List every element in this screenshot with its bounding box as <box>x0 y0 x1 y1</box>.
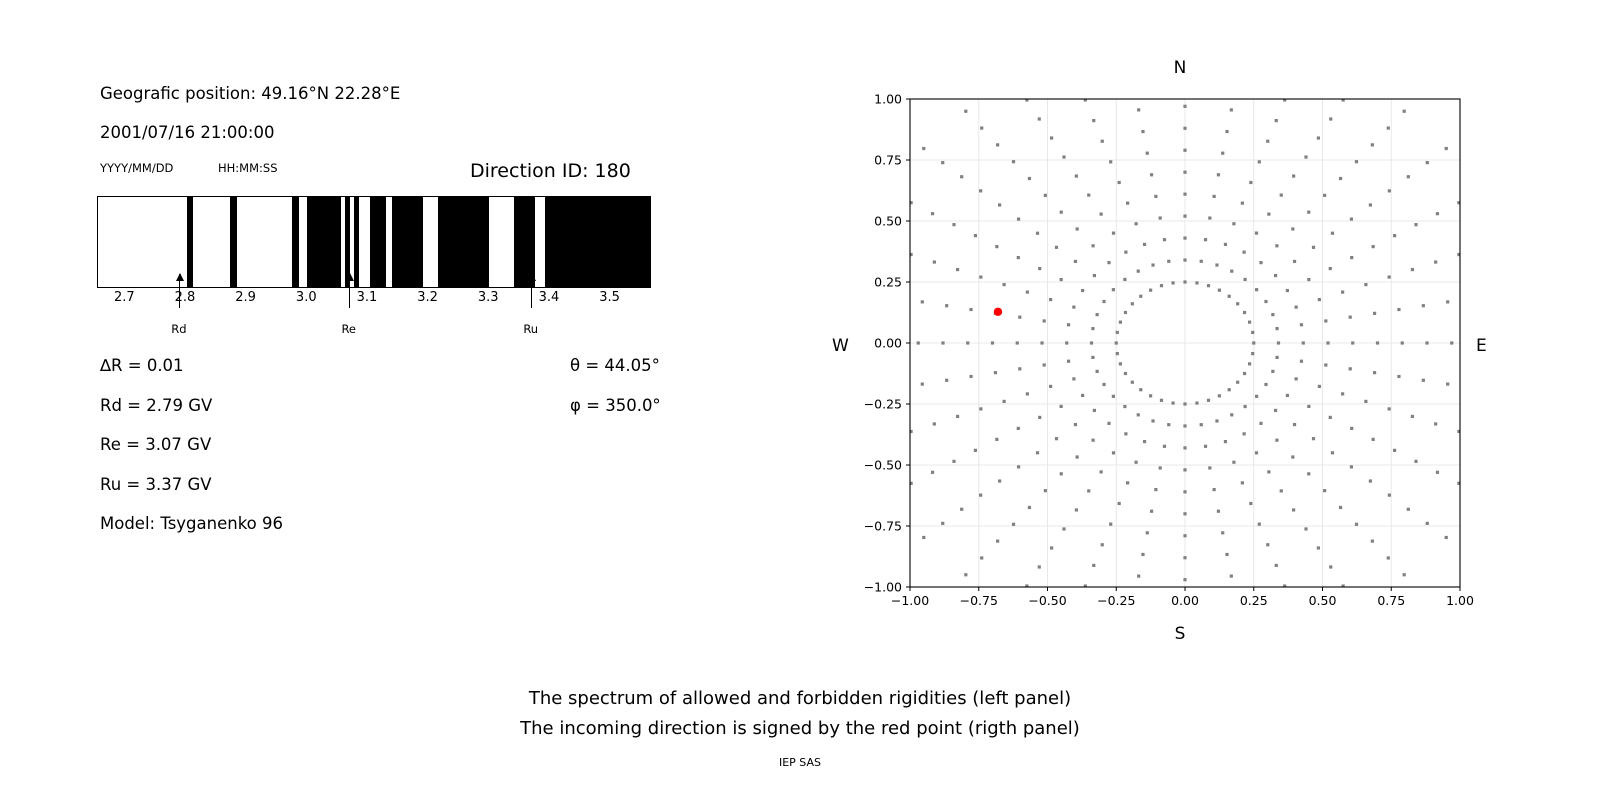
scatter-point <box>1183 127 1186 130</box>
y-axis-tick-label: 0.75 <box>852 153 902 168</box>
scatter-point <box>1450 341 1453 344</box>
scatter-point <box>956 268 959 271</box>
scatter-point <box>1087 193 1090 196</box>
scatter-point <box>1422 304 1425 307</box>
scatter-point <box>1183 578 1186 581</box>
scatter-point <box>1252 341 1255 344</box>
scatter-point <box>1422 379 1425 382</box>
scatter-point <box>1397 375 1400 378</box>
scatter-point <box>1017 427 1020 430</box>
x-axis-tick-label: 1.00 <box>1446 593 1474 608</box>
scatter-point <box>1426 161 1429 164</box>
scatter-point <box>1293 260 1296 263</box>
scatter-point <box>1221 152 1224 155</box>
scatter-point <box>1018 367 1021 370</box>
scatter-point <box>1167 260 1170 263</box>
scatter-point <box>1259 422 1262 425</box>
scatter-point <box>1183 215 1186 218</box>
scatter-point <box>1230 413 1233 416</box>
scatter-point <box>1183 236 1186 239</box>
scatter-point <box>1411 415 1414 418</box>
scatter-point <box>1354 603 1357 606</box>
scatter-point <box>1040 341 1043 344</box>
scatter-point <box>1115 341 1118 344</box>
scatter-point <box>1350 256 1353 259</box>
scatter-point <box>1323 194 1326 197</box>
scatter-point <box>1183 171 1186 174</box>
scatter-point <box>1228 295 1231 298</box>
scatter-point <box>1403 573 1406 576</box>
scatter-point <box>1401 341 1404 344</box>
scatter-point <box>1271 313 1274 316</box>
scatter-point <box>945 379 948 382</box>
scatter-point <box>1154 195 1157 198</box>
scatter-point <box>888 493 891 496</box>
scatter-point <box>1102 383 1105 386</box>
scatter-point <box>1151 419 1154 422</box>
scatter-point <box>1012 523 1015 526</box>
scatter-point <box>1028 506 1031 509</box>
scatter-point <box>1074 423 1077 426</box>
scatter-point <box>1364 400 1367 403</box>
scatter-point <box>1013 603 1016 606</box>
scatter-point <box>1324 319 1327 322</box>
scatter-point <box>1312 246 1315 249</box>
scatter-point <box>1133 87 1136 90</box>
scatter-point <box>1204 445 1207 448</box>
scatter-point <box>1119 321 1122 324</box>
scatter-point <box>1112 232 1115 235</box>
scatter-point <box>1151 263 1154 266</box>
scatter-point <box>1081 289 1084 292</box>
scatter-point <box>1167 423 1170 426</box>
scatter-point <box>1286 394 1289 397</box>
scatter-point <box>1150 510 1153 513</box>
scatter-point <box>1204 238 1207 241</box>
scatter-point <box>903 133 906 136</box>
scatter-point <box>1355 523 1358 526</box>
scatter-point <box>1388 275 1391 278</box>
scatter-point <box>1171 401 1174 404</box>
scatter-point <box>980 556 983 559</box>
scatter-point <box>945 304 948 307</box>
scatter-point <box>994 371 997 374</box>
x-axis-tick-label: 0.75 <box>1377 593 1405 608</box>
scatter-point <box>1414 223 1417 226</box>
scatter-point <box>1397 308 1400 311</box>
scatter-point <box>1243 372 1246 375</box>
scatter-point <box>1100 213 1103 216</box>
scatter-point <box>1255 451 1258 454</box>
scatter-point <box>1171 281 1174 284</box>
scatter-point <box>1143 440 1146 443</box>
scatter-point <box>1224 243 1227 246</box>
scatter-point <box>1183 512 1186 515</box>
scatter-point <box>964 573 967 576</box>
scatter-point <box>1418 590 1421 593</box>
scatter-point <box>960 508 963 511</box>
scatter-point <box>974 449 977 452</box>
scatter-point <box>1317 136 1320 139</box>
scatter-point <box>1255 395 1258 398</box>
scatter-point <box>1300 323 1303 326</box>
scatter-point <box>1221 531 1224 534</box>
scatter-point <box>1243 432 1246 435</box>
scatter-point <box>1163 445 1166 448</box>
scatter-point <box>1017 217 1020 220</box>
scatter-point <box>1464 550 1467 553</box>
scatter-point <box>1434 422 1437 425</box>
scatter-point <box>1208 466 1211 469</box>
scatter-point <box>1018 316 1021 319</box>
scatter-point <box>1217 173 1220 176</box>
scatter-point <box>979 407 982 410</box>
scatter-point <box>974 234 977 237</box>
scatter-point <box>1249 181 1252 184</box>
scatter-point <box>1093 409 1096 412</box>
scatter-point <box>1096 313 1099 316</box>
scatter-point <box>1003 283 1006 286</box>
scatter-point <box>1280 489 1283 492</box>
scatter-point <box>1445 147 1448 150</box>
scatter-point <box>1038 565 1041 568</box>
scatter-point <box>956 415 959 418</box>
scatter-point <box>1224 440 1227 443</box>
x-axis-tick-label: 0.25 <box>1240 593 1268 608</box>
scatter-point <box>1183 490 1186 493</box>
scatter-point <box>1092 564 1095 567</box>
scatter-point <box>1354 79 1357 82</box>
scatter-point <box>1043 319 1046 322</box>
scatter-point <box>1003 400 1006 403</box>
y-axis-tick-label: 0.50 <box>852 214 902 229</box>
scatter-point <box>991 341 994 344</box>
scatter-point <box>1075 605 1078 608</box>
scatter-point <box>1183 105 1186 108</box>
scatter-point <box>998 479 1001 482</box>
scatter-point <box>1436 212 1439 215</box>
scatter-point <box>1326 341 1329 344</box>
scatter-point <box>1425 341 1428 344</box>
scatter-point <box>1470 296 1473 299</box>
scatter-point <box>1102 300 1105 303</box>
scatter-point <box>1062 155 1065 158</box>
scatter-point <box>1324 363 1327 366</box>
scatter-point <box>941 522 944 525</box>
scatter-point <box>1116 352 1119 355</box>
scatter-point <box>1291 455 1294 458</box>
scatter-point <box>1292 78 1295 81</box>
scatter-point <box>996 540 999 543</box>
scatter-point <box>1183 402 1186 405</box>
scatter-point <box>888 190 891 193</box>
scatter-point <box>1244 405 1247 408</box>
scatter-point <box>1049 298 1052 301</box>
scatter-point <box>1403 110 1406 113</box>
scatter-point <box>1075 508 1078 511</box>
scatter-point <box>1249 502 1252 505</box>
scatter-point <box>1475 341 1478 344</box>
scatter-point <box>1267 213 1270 216</box>
scatter-point <box>1329 117 1332 120</box>
scatter-point <box>979 494 982 497</box>
scatter-point <box>1101 140 1104 143</box>
scatter-point <box>1393 449 1396 452</box>
scatter-point <box>1146 152 1149 155</box>
scatter-point <box>1213 488 1216 491</box>
scatter-point <box>933 260 936 263</box>
scatter-point <box>1434 260 1437 263</box>
scatter-point <box>1355 160 1358 163</box>
scatter-point <box>1234 87 1237 90</box>
scatter-point <box>1264 300 1267 303</box>
scatter-point <box>1388 407 1391 410</box>
scatter-point <box>1112 451 1115 454</box>
scatter-point <box>1218 289 1221 292</box>
scatter-point <box>1371 540 1374 543</box>
scatter-point <box>1118 502 1121 505</box>
scatter-point <box>1275 327 1278 330</box>
scatter-point <box>1218 394 1221 397</box>
scatter-point <box>1075 78 1078 81</box>
scatter-point <box>1266 543 1269 546</box>
y-axis-tick-label: 0.25 <box>852 275 902 290</box>
scatter-point <box>1373 312 1376 315</box>
scatter-point <box>1072 306 1075 309</box>
scatter-point <box>1195 401 1198 404</box>
scatter-point <box>1331 232 1334 235</box>
scatter-point <box>1067 360 1070 363</box>
scatter-point <box>1371 143 1374 146</box>
scatter-point <box>1123 278 1126 281</box>
scatter-point <box>1275 439 1278 442</box>
scatter-point <box>1200 423 1203 426</box>
scatter-point <box>1026 290 1029 293</box>
scatter-point <box>1323 489 1326 492</box>
scatter-point <box>1183 534 1186 537</box>
scatter-point <box>1414 460 1417 463</box>
scatter-point <box>1112 288 1115 291</box>
scatter-point <box>1134 222 1137 225</box>
x-axis-tick-label: −0.50 <box>1028 593 1066 608</box>
scatter-point <box>1373 371 1376 374</box>
scatter-point <box>1116 331 1119 334</box>
scatter-point <box>1258 160 1261 163</box>
scatter-point <box>1146 531 1149 534</box>
scatter-point <box>969 375 972 378</box>
scatter-point <box>1017 256 1020 259</box>
y-axis-tick-label: −1.00 <box>852 580 902 595</box>
scatter-point <box>1274 274 1277 277</box>
scatter-point <box>1411 268 1414 271</box>
highlight-point-red[interactable] <box>994 308 1002 316</box>
scatter-point <box>948 93 951 96</box>
scatter-point <box>1149 289 1152 292</box>
scatter-point <box>1183 556 1186 559</box>
scatter-point <box>1044 194 1047 197</box>
scatter-point <box>1307 278 1310 281</box>
scatter-point <box>1183 149 1186 152</box>
caption-line-2: The incoming direction is signed by the … <box>0 718 1600 739</box>
scatter-point <box>1043 363 1046 366</box>
scatter-point <box>1266 140 1269 143</box>
scatter-point <box>922 536 925 539</box>
scatter-point <box>1134 461 1137 464</box>
scatter-point <box>1100 470 1103 473</box>
scatter-point <box>1139 295 1142 298</box>
scatter-point <box>1060 211 1063 214</box>
scatter-plot-svg <box>0 0 1600 800</box>
scatter-point <box>980 126 983 129</box>
y-axis-tick-label: 1.00 <box>852 92 902 107</box>
scatter-point <box>1318 298 1321 301</box>
scatter-point <box>1092 119 1095 122</box>
scatter-point <box>966 341 969 344</box>
scatter-point <box>1076 227 1079 230</box>
scatter-point <box>1131 381 1134 384</box>
scatter-point <box>1243 251 1246 254</box>
y-axis-tick-label: 0.00 <box>852 336 902 351</box>
scatter-point <box>1075 174 1078 177</box>
scatter-point <box>896 386 899 389</box>
scatter-point <box>941 341 944 344</box>
scatter-point <box>964 110 967 113</box>
scatter-point <box>921 300 924 303</box>
scatter-point <box>1292 605 1295 608</box>
y-axis-tick-label: −0.75 <box>852 519 902 534</box>
scatter-point <box>1123 405 1126 408</box>
scatter-point <box>1329 565 1332 568</box>
scatter-point <box>1341 290 1344 293</box>
scatter-point <box>1446 382 1449 385</box>
scatter-point <box>1369 479 1372 482</box>
scatter-point <box>1251 352 1254 355</box>
scatter-point <box>996 143 999 146</box>
scatter-point <box>1055 437 1058 440</box>
scatter-point <box>1234 596 1237 599</box>
scatter-point <box>1292 508 1295 511</box>
scatter-point <box>1230 270 1233 273</box>
scatter-point <box>1163 238 1166 241</box>
scatter-point <box>960 175 963 178</box>
scatter-point <box>1241 202 1244 205</box>
scatter-point <box>979 275 982 278</box>
scatter-point <box>1049 385 1052 388</box>
scatter-point <box>1248 321 1251 324</box>
scatter-point <box>1183 424 1186 427</box>
scatter-point <box>1387 126 1390 129</box>
scatter-point <box>1137 108 1140 111</box>
scatter-point <box>1038 267 1041 270</box>
scatter-point <box>1026 392 1029 395</box>
scatter-point <box>1351 341 1354 344</box>
scatter-point <box>1149 394 1152 397</box>
scatter-point <box>1076 455 1079 458</box>
scatter-point <box>1143 243 1146 246</box>
scatter-point <box>1217 510 1220 513</box>
scatter-point <box>1230 574 1233 577</box>
scatter-point <box>1307 472 1310 475</box>
scatter-point <box>1339 506 1342 509</box>
scatter-point <box>1232 461 1235 464</box>
scatter-point <box>1207 399 1210 402</box>
scatter-point <box>1372 245 1375 248</box>
scatter-point <box>1050 136 1053 139</box>
scatter-point <box>1028 177 1031 180</box>
scatter-point <box>1062 527 1065 530</box>
scatter-point <box>917 341 920 344</box>
scatter-point <box>1318 385 1321 388</box>
scatter-point <box>1481 245 1484 248</box>
scatter-point <box>1317 546 1320 549</box>
scatter-point <box>1195 281 1198 284</box>
scatter-point <box>952 460 955 463</box>
scatter-point <box>1101 543 1104 546</box>
scatter-point <box>1387 556 1390 559</box>
scatter-point <box>1230 108 1233 111</box>
scatter-point <box>1065 341 1068 344</box>
scatter-point <box>1277 341 1280 344</box>
scatter-point <box>1118 181 1121 184</box>
scatter-point <box>903 550 906 553</box>
scatter-point <box>1236 302 1239 305</box>
scatter-point <box>1060 472 1063 475</box>
scatter-point <box>1013 79 1016 82</box>
scatter-point <box>1331 451 1334 454</box>
scatter-point <box>1160 284 1163 287</box>
scatter-point <box>1036 451 1039 454</box>
scatter-point <box>1087 489 1090 492</box>
scatter-point <box>1119 362 1122 365</box>
scatter-point <box>1126 202 1129 205</box>
scatter-point <box>1060 405 1063 408</box>
scatter-point <box>1072 377 1075 380</box>
scatter-point <box>1307 405 1310 408</box>
scatter-point <box>1280 193 1283 196</box>
scatter-point <box>1183 258 1186 261</box>
scatter-point <box>1109 523 1112 526</box>
scatter-point <box>1446 300 1449 303</box>
scatter-point <box>1304 527 1307 530</box>
scatter-point <box>1067 323 1070 326</box>
scatter-point <box>1017 465 1020 468</box>
scatter-point <box>1251 331 1254 334</box>
scatter-point <box>1213 195 1216 198</box>
scatter-point <box>1228 388 1231 391</box>
scatter-point <box>931 212 934 215</box>
footer-text: IEP SAS <box>0 756 1600 769</box>
scatter-point <box>1112 395 1115 398</box>
scatter-point <box>1091 244 1094 247</box>
scatter-point <box>1091 327 1094 330</box>
scatter-point <box>1349 367 1352 370</box>
scatter-point <box>931 471 934 474</box>
scatter-point <box>1304 155 1307 158</box>
scatter-point <box>1464 133 1467 136</box>
scatter-point <box>1139 388 1142 391</box>
scatter-point <box>1407 175 1410 178</box>
scatter-point <box>1159 216 1162 219</box>
scatter-point <box>1349 316 1352 319</box>
scatter-point <box>1036 232 1039 235</box>
scatter-point <box>1312 437 1315 440</box>
scatter-point <box>1131 302 1134 305</box>
scatter-point <box>1090 341 1093 344</box>
scatter-point <box>921 382 924 385</box>
scatter-point <box>1271 370 1274 373</box>
scatter-point <box>1329 416 1332 419</box>
scatter-point <box>1012 160 1015 163</box>
